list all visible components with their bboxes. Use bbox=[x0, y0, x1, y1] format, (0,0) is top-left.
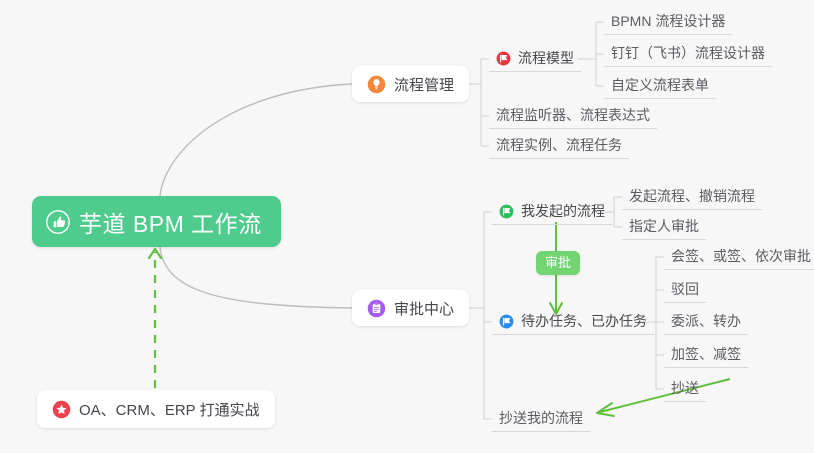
approval-tag-label: 审批 bbox=[545, 255, 571, 270]
node-cc[interactable]: 抄送 bbox=[664, 375, 706, 402]
node-cc-label: 抄送 bbox=[671, 378, 699, 398]
node-dingtalk-designer[interactable]: 钉钉（飞书）流程设计器 bbox=[604, 40, 772, 67]
branch-process-management-label: 流程管理 bbox=[394, 74, 454, 95]
wire-pm-to-model bbox=[481, 59, 489, 64]
node-process-model[interactable]: 流程模型 bbox=[489, 45, 581, 72]
wire-root-to-approval-center bbox=[160, 247, 352, 308]
bottom-note-label: OA、CRM、ERP 打通实战 bbox=[79, 399, 260, 420]
node-cc-to-me[interactable]: 抄送我的流程 bbox=[492, 405, 590, 432]
node-delegate-transfer-label: 委派、转办 bbox=[671, 311, 741, 331]
star-icon bbox=[52, 400, 71, 419]
branch-process-management[interactable]: 流程管理 bbox=[352, 66, 469, 102]
node-process-model-label: 流程模型 bbox=[518, 48, 574, 68]
node-start-cancel-process-label: 发起流程、撤销流程 bbox=[629, 186, 755, 206]
node-listener-expression-label: 流程监听器、流程表达式 bbox=[496, 105, 650, 125]
node-instance-task[interactable]: 流程实例、流程任务 bbox=[489, 132, 629, 159]
node-add-remove-sign-label: 加签、减签 bbox=[671, 344, 741, 364]
pin-idea-icon bbox=[367, 75, 386, 94]
node-todo-done-task[interactable]: 待办任务、已办任务 bbox=[492, 308, 654, 335]
node-delegate-transfer[interactable]: 委派、转办 bbox=[664, 308, 748, 335]
node-custom-form[interactable]: 自定义流程表单 bbox=[604, 72, 716, 99]
node-custom-form-label: 自定义流程表单 bbox=[611, 75, 709, 95]
clipboard-icon bbox=[367, 299, 386, 318]
node-my-started-label: 我发起的流程 bbox=[521, 201, 605, 221]
bottom-note-node[interactable]: OA、CRM、ERP 打通实战 bbox=[37, 390, 275, 428]
node-bpmn-designer[interactable]: BPMN 流程设计器 bbox=[604, 8, 732, 35]
branch-approval-center[interactable]: 审批中心 bbox=[352, 290, 469, 326]
node-huiqian-huoqian[interactable]: 会签、或签、依次审批 bbox=[664, 243, 814, 270]
node-dingtalk-designer-label: 钉钉（飞书）流程设计器 bbox=[611, 43, 765, 63]
node-todo-done-task-label: 待办任务、已办任务 bbox=[521, 311, 647, 331]
node-instance-task-label: 流程实例、流程任务 bbox=[496, 135, 622, 155]
root-label: 芋道 BPM 工作流 bbox=[79, 205, 262, 239]
node-my-started[interactable]: 我发起的流程 bbox=[492, 198, 612, 225]
thumbs-up-icon bbox=[46, 210, 70, 234]
node-listener-expression[interactable]: 流程监听器、流程表达式 bbox=[489, 102, 657, 129]
root-node[interactable]: 芋道 BPM 工作流 bbox=[32, 196, 281, 247]
node-cc-to-me-label: 抄送我的流程 bbox=[499, 408, 583, 428]
flag-icon bbox=[499, 204, 514, 219]
node-bpmn-designer-label: BPMN 流程设计器 bbox=[611, 11, 725, 31]
node-start-cancel-process[interactable]: 发起流程、撤销流程 bbox=[622, 183, 762, 210]
node-assignee-approval[interactable]: 指定人审批 bbox=[622, 213, 706, 240]
node-add-remove-sign[interactable]: 加签、减签 bbox=[664, 341, 748, 368]
arrowhead-bottomnote-to-root bbox=[149, 249, 161, 258]
node-reject-label: 驳回 bbox=[671, 279, 699, 299]
approval-tag: 审批 bbox=[536, 251, 580, 275]
mindmap-canvas: 芋道 BPM 工作流 OA、CRM、ERP 打通实战 流程管理 流程模型 BPM… bbox=[0, 0, 814, 453]
branch-approval-center-label: 审批中心 bbox=[394, 298, 454, 319]
flag-icon bbox=[496, 51, 511, 66]
node-reject[interactable]: 驳回 bbox=[664, 276, 706, 303]
node-assignee-approval-label: 指定人审批 bbox=[629, 216, 699, 236]
flag-icon bbox=[499, 314, 514, 329]
node-huiqian-huoqian-label: 会签、或签、依次审批 bbox=[671, 246, 811, 266]
arrowhead-chaosong-to-cctome bbox=[597, 403, 614, 416]
wire-root-to-process-management bbox=[160, 84, 352, 196]
